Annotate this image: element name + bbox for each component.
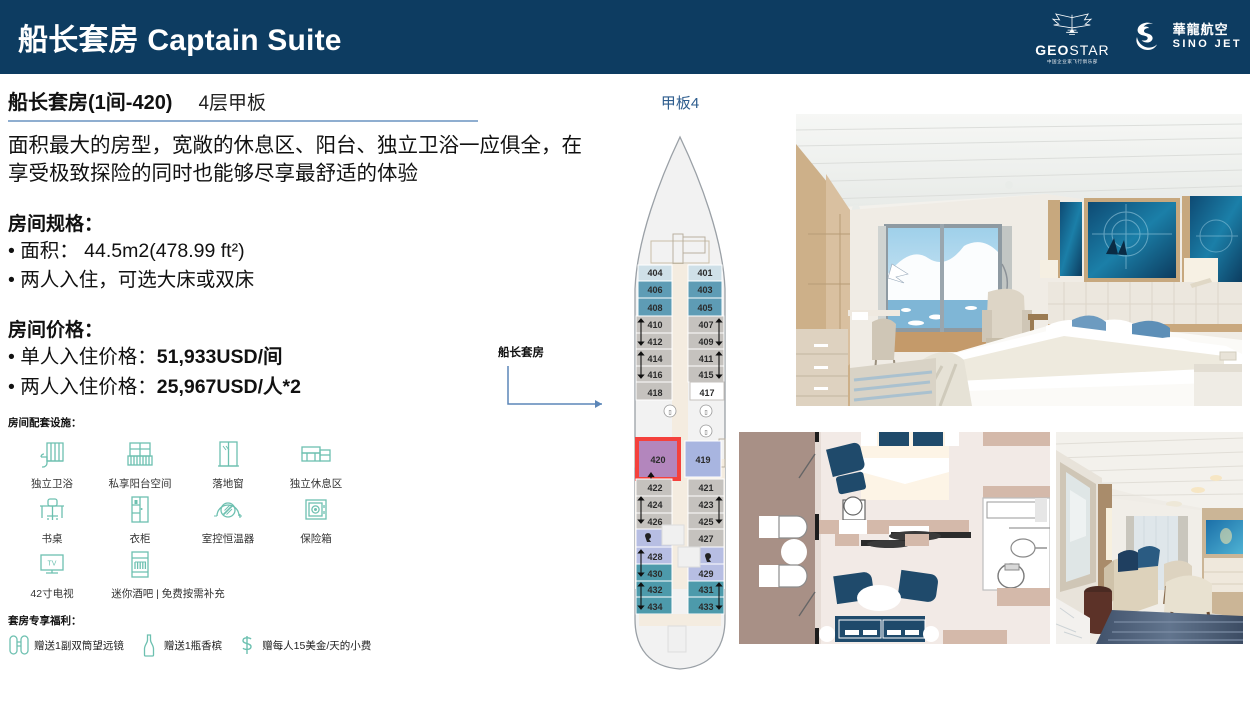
subheader-room: 船长套房(1间-420) — [8, 86, 172, 115]
wardrobe-icon — [120, 491, 160, 529]
amenity-window: 落地窗 — [184, 436, 272, 491]
amenity-label: 书桌 — [42, 531, 63, 546]
amenity-tv: TV 42寸电视 — [8, 546, 96, 601]
amenity-minibar: 迷你酒吧 | 免费按需补充 — [96, 546, 184, 601]
suite-callout-label: 船长套房 — [498, 344, 618, 360]
svg-text:404: 404 — [647, 268, 662, 278]
lounge-sofa-icon — [296, 436, 336, 474]
sinojet-name-en: SINO JET — [1173, 38, 1242, 51]
amenity-balcony: 私享阳台空间 — [96, 436, 184, 491]
suite-callout: 船长套房 — [498, 344, 618, 425]
room-description: 面积最大的房型，宽敞的休息区、阳台、独立卫浴一应俱全，在享受极致探险的同时也能够… — [8, 132, 590, 189]
geostar-logo: GEOSTAR 中国企业家飞行俱乐部 — [1035, 10, 1109, 65]
amenity-lounge: 独立休息区 — [272, 436, 360, 491]
specs-item-area: • 面积： 44.5m2(478.99 ft²) — [8, 238, 590, 266]
bathtub-icon — [32, 436, 72, 474]
svg-text:428: 428 — [647, 552, 662, 562]
subheader-deck: 4层甲板 — [198, 88, 266, 115]
geostar-eagle-icon — [1050, 10, 1094, 40]
amenity-label: 室控恒温器 — [202, 531, 255, 546]
svg-text:410: 410 — [647, 320, 662, 330]
amenity-thermostat: 室控恒温器 — [184, 491, 272, 546]
page-title-en: Captain Suite — [147, 24, 341, 57]
svg-text:407: 407 — [698, 320, 713, 330]
dollar-icon — [236, 632, 258, 658]
svg-text:403: 403 — [697, 285, 712, 295]
svg-text:415: 415 — [698, 370, 713, 380]
deck-plan: 甲板4 — [600, 92, 760, 692]
amenity-label: 独立卫浴 — [31, 476, 73, 491]
svg-text:429: 429 — [698, 569, 713, 579]
desk-icon — [32, 491, 72, 529]
captain-suite-living-area-photo — [1056, 432, 1243, 644]
amenities-row: 书桌 衣柜 — [8, 491, 368, 546]
minibar-icon — [120, 546, 160, 584]
svg-text:418: 418 — [647, 388, 662, 398]
specs-title: 房间规格： — [8, 209, 590, 236]
perk-label: 赠每人15美金/天的小费 — [262, 638, 371, 653]
svg-text:421: 421 — [698, 483, 713, 493]
amenity-label: 私享阳台空间 — [109, 476, 172, 491]
svg-text:405: 405 — [697, 303, 712, 313]
page-title-cn: 船长套房 — [18, 24, 139, 57]
svg-text:419: 419 — [695, 455, 710, 465]
svg-text:433: 433 — [698, 602, 713, 612]
svg-text:424: 424 — [647, 500, 662, 510]
captain-suite-bedroom-render — [796, 114, 1242, 406]
amenity-label: 落地窗 — [212, 476, 244, 491]
svg-text:409: 409 — [698, 337, 713, 347]
amenity-bathroom: 独立卫浴 — [8, 436, 96, 491]
slide-root: 船长套房 Captain Suite GEOSTAR 中国企业家飞行俱乐部 — [0, 0, 1250, 706]
perk-item: 赠送1副双筒望远镜 — [8, 632, 124, 658]
svg-text:425: 425 — [698, 517, 713, 527]
svg-text:414: 414 — [647, 354, 662, 364]
stern-structure — [668, 626, 686, 652]
sino-jet-dragon-icon — [1126, 17, 1166, 57]
price-single-label: • 单人入住价格： — [8, 346, 157, 368]
tv-icon: TV — [32, 546, 72, 584]
deck-plan-label: 甲板4 — [600, 92, 760, 113]
svg-text:422: 422 — [647, 483, 662, 493]
svg-text:401: 401 — [697, 268, 712, 278]
svg-text:▯: ▯ — [704, 410, 707, 416]
perk-item: 赠每人15美金/天的小费 — [236, 632, 371, 658]
geostar-subtitle: 中国企业家飞行俱乐部 — [1047, 59, 1098, 65]
amenities-grid: 独立卫浴 私享阳台空间 — [8, 436, 368, 601]
price-single-value: 51,933USD/间 — [157, 346, 283, 368]
perk-label: 赠送1副双筒望远镜 — [34, 638, 124, 653]
amenity-wardrobe: 衣柜 — [96, 491, 184, 546]
svg-text:431: 431 — [698, 585, 713, 595]
floor-window-icon — [208, 436, 248, 474]
subheader-rule — [8, 120, 478, 122]
perk-item: 赠送1瓶香槟 — [138, 632, 222, 658]
price-double-label: • 两人入住价格： — [8, 376, 157, 398]
callout-arrow-icon — [498, 360, 618, 420]
amenity-label: 独立休息区 — [290, 476, 343, 491]
svg-text:▯: ▯ — [668, 410, 671, 416]
safe-box-icon — [296, 491, 336, 529]
svg-text:427: 427 — [698, 534, 713, 544]
price-title: 房间价格： — [8, 315, 590, 342]
amenities-row: 独立卫浴 私享阳台空间 — [8, 436, 368, 491]
amenity-label: 衣柜 — [130, 531, 151, 546]
utility-left — [662, 525, 684, 545]
specs-section: 房间规格： • 面积： 44.5m2(478.99 ft²) • 两人入住，可选… — [8, 209, 590, 295]
subheader: 船长套房(1间-420) 4层甲板 — [8, 86, 590, 117]
utility-right — [678, 547, 700, 567]
svg-text:416: 416 — [647, 370, 662, 380]
specs-item-occupancy: • 两人入住，可选大床或双床 — [8, 267, 590, 295]
svg-text:417: 417 — [699, 388, 714, 398]
geostar-name-thin: STAR — [1069, 42, 1109, 58]
amenity-desk: 书桌 — [8, 491, 96, 546]
svg-text:411: 411 — [699, 354, 714, 364]
perks-title: 套房专享福利： — [8, 613, 590, 628]
header-logos: GEOSTAR 中国企业家飞行俱乐部 華龍航空 SINO JET — [1035, 0, 1242, 74]
binoculars-icon — [8, 632, 30, 658]
svg-text:434: 434 — [647, 602, 662, 612]
sinojet-name-cn: 華龍航空 — [1173, 23, 1242, 38]
perks-list: 赠送1副双筒望远镜 赠送1瓶香槟 赠每人15美金/天的小费 — [8, 632, 590, 658]
sinojet-logo: 華龍航空 SINO JET — [1126, 17, 1242, 57]
svg-text:408: 408 — [647, 303, 662, 313]
perk-label: 赠送1瓶香槟 — [164, 638, 222, 653]
svg-text:TV: TV — [48, 561, 57, 568]
thermostat-icon — [208, 491, 248, 529]
deck-plan-diagram[interactable]: 404401 406403 408405 410407 412409 41441… — [605, 119, 755, 699]
page-title: 船长套房 Captain Suite — [18, 15, 342, 59]
amenity-label: 保险箱 — [300, 531, 332, 546]
geostar-wordmark: GEOSTAR — [1035, 42, 1109, 58]
geostar-name-bold: GEO — [1035, 42, 1069, 58]
svg-text:420: 420 — [650, 455, 665, 465]
svg-text:406: 406 — [647, 285, 662, 295]
slide-header: 船长套房 Captain Suite GEOSTAR 中国企业家飞行俱乐部 — [0, 0, 1250, 74]
amenity-label: 迷你酒吧 | 免费按需补充 — [111, 586, 225, 601]
svg-text:430: 430 — [647, 569, 662, 579]
svg-text:432: 432 — [647, 585, 662, 595]
amenity-safe: 保险箱 — [272, 491, 360, 546]
amenities-row: TV 42寸电视 迷你酒吧 | 免费按需补充 — [8, 546, 368, 601]
svg-text:▯: ▯ — [704, 430, 707, 436]
svg-text:412: 412 — [647, 337, 662, 347]
svg-text:423: 423 — [698, 500, 713, 510]
price-double-value: 25,967USD/人*2 — [157, 376, 301, 398]
captain-suite-floor-plan — [739, 432, 1050, 644]
svg-text:426: 426 — [647, 517, 662, 527]
stern-deck — [639, 614, 721, 626]
sinojet-wordmark: 華龍航空 SINO JET — [1173, 23, 1242, 51]
balcony-icon — [120, 436, 160, 474]
amenity-label: 42寸电视 — [30, 586, 73, 601]
champagne-bottle-icon — [138, 632, 160, 658]
